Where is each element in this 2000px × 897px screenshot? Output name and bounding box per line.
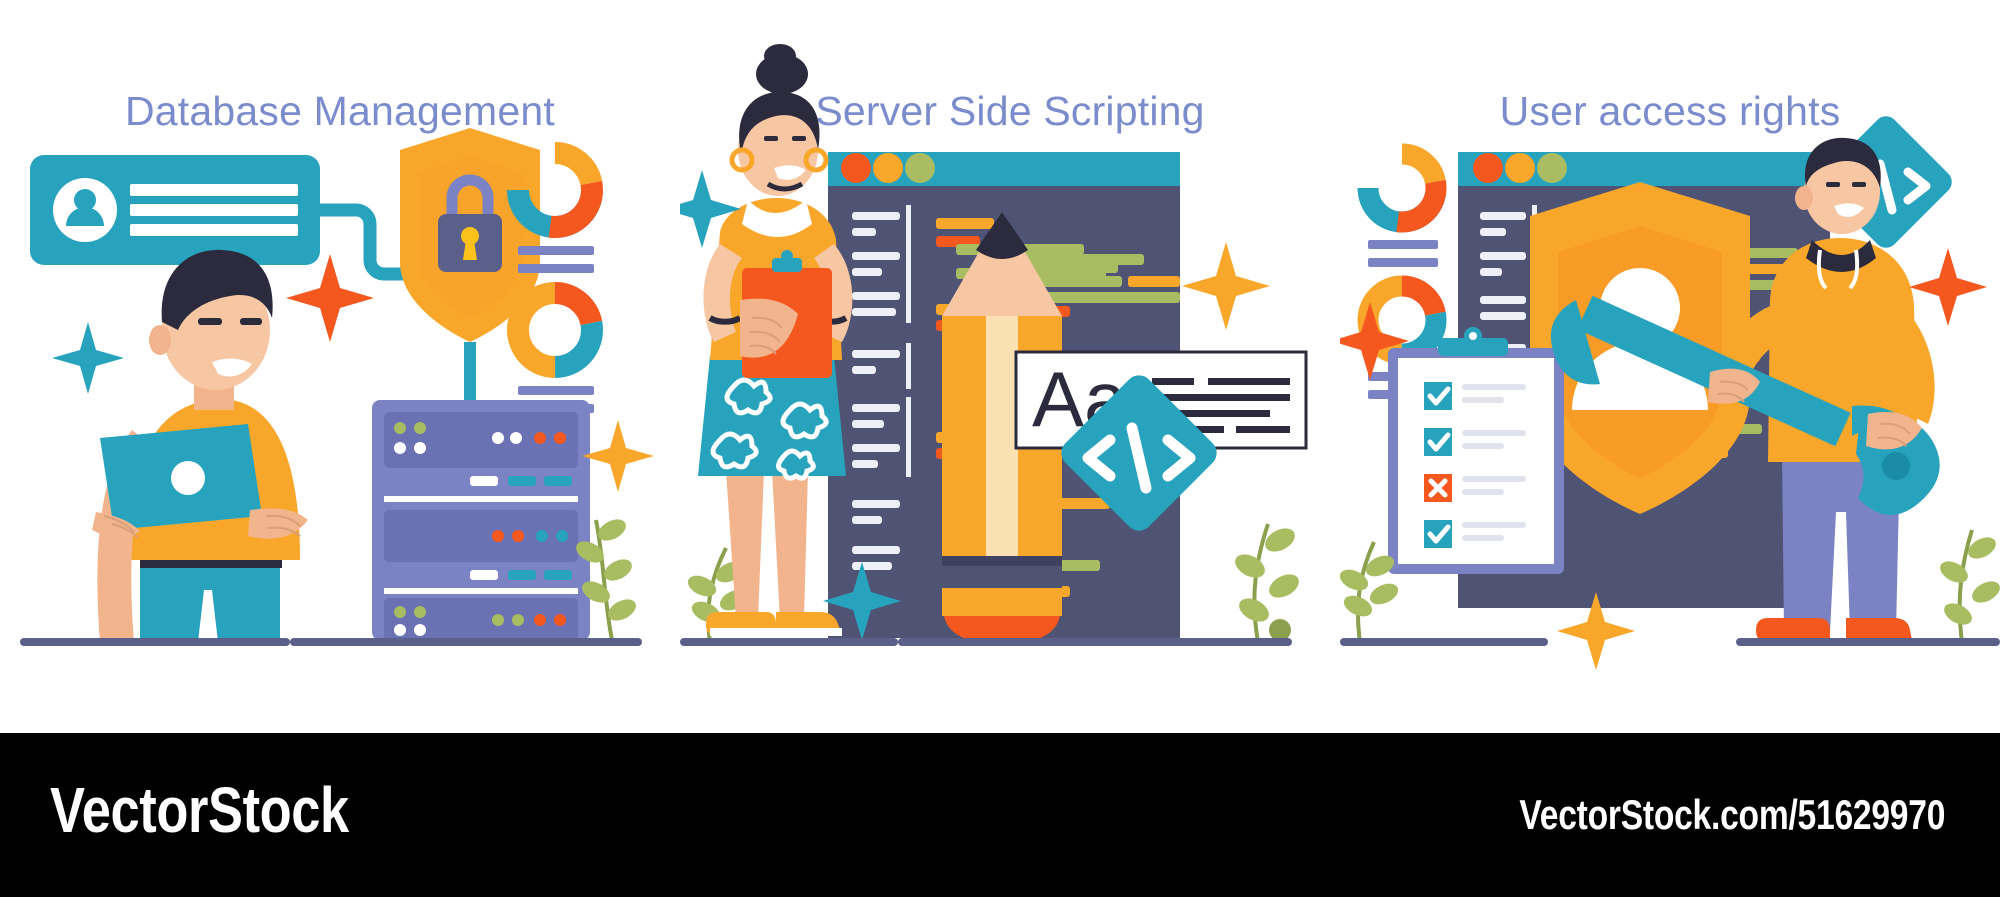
man-with-laptop — [92, 250, 308, 642]
user-access-rights-artwork — [1340, 0, 2000, 733]
panel-user-access-rights: User access rights — [1340, 0, 2000, 733]
sparkle-orange — [286, 254, 374, 342]
window-dot-red — [841, 153, 871, 183]
bar-group-top — [1368, 240, 1438, 267]
ground-line-right — [1736, 638, 2000, 646]
window-dot-yellow — [1505, 153, 1535, 183]
server-rack-unit-3 — [384, 598, 578, 642]
vectorstock-url: VectorStock.com/51629970 — [1519, 791, 1945, 839]
server-side-scripting-artwork: Aa — [680, 0, 1340, 733]
sparkle-teal — [52, 322, 124, 394]
panel-database-management: Database Management — [0, 0, 680, 733]
window-dot-red — [1473, 153, 1503, 183]
illustration-stage: Database Management — [0, 0, 2000, 733]
vectorstock-logo: VectorStock — [50, 773, 349, 847]
panel-server-side-scripting: Server Side Scripting — [680, 0, 1340, 733]
ground-line-left — [680, 638, 898, 646]
ground-line-right — [290, 638, 642, 646]
watermark-bar: VectorStock VectorStock.com/51629970 — [0, 733, 2000, 897]
plant-decoration-right — [1937, 530, 2000, 642]
donut-chart-top — [1368, 154, 1436, 222]
sparkle-yellow-right — [1182, 242, 1270, 330]
donut-chart-bottom — [518, 293, 592, 367]
database-management-artwork — [0, 0, 680, 733]
plant-decoration-right — [1231, 524, 1303, 642]
permissions-checklist — [1388, 327, 1564, 574]
ground-line-right — [898, 638, 1292, 646]
ground-line-left — [20, 638, 290, 646]
sparkle-yellow — [582, 420, 654, 492]
user-profile-card — [30, 155, 320, 265]
window-dot-yellow — [873, 153, 903, 183]
sparkle-orange-right — [1909, 248, 1987, 326]
ground-line-left — [1340, 638, 1548, 646]
window-dot-green — [905, 153, 935, 183]
window-dot-green — [1537, 153, 1567, 183]
